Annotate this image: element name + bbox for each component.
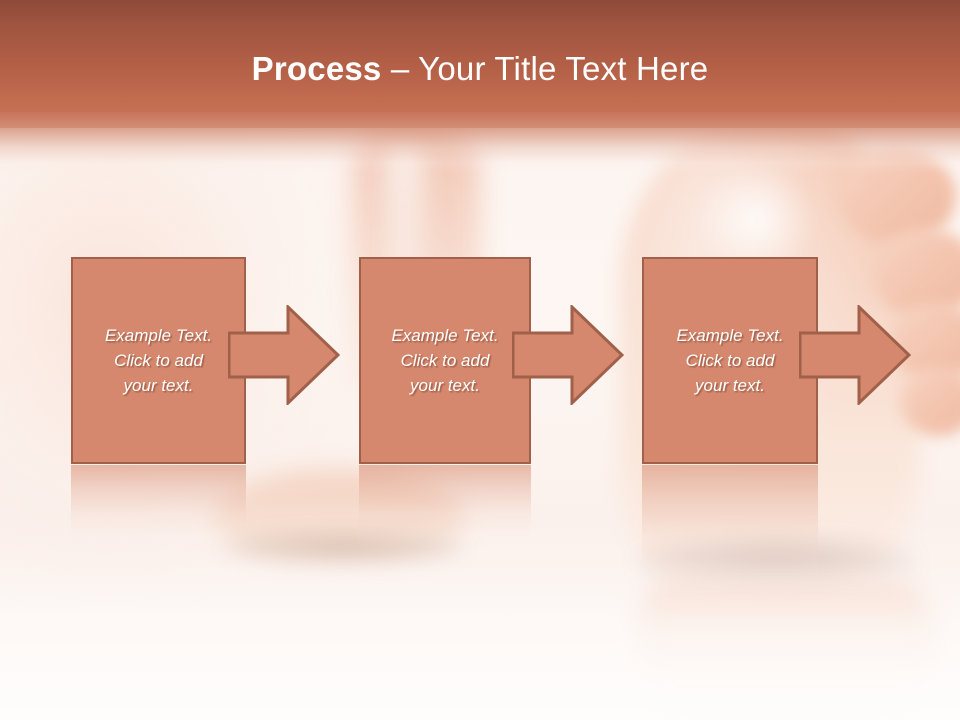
page-title-strong: Process bbox=[252, 50, 382, 87]
page-title: Process – Your Title Text Here bbox=[0, 48, 960, 90]
process-step-3[interactable]: Example Text. Click to add your text. bbox=[642, 257, 818, 464]
process-step-1-text: Example Text. Click to add your text. bbox=[97, 323, 220, 398]
page-title-rest: – Your Title Text Here bbox=[381, 50, 708, 87]
step-reflection-1 bbox=[71, 465, 246, 549]
step-reflection-3 bbox=[642, 465, 818, 585]
process-step-2-text: Example Text. Click to add your text. bbox=[383, 323, 506, 398]
process-step-2[interactable]: Example Text. Click to add your text. bbox=[359, 257, 531, 464]
process-arrow-3[interactable] bbox=[799, 305, 911, 405]
process-arrow-2[interactable] bbox=[512, 305, 624, 405]
step-reflection-2 bbox=[359, 465, 531, 549]
right-arrow-icon bbox=[799, 305, 911, 405]
process-step-1[interactable]: Example Text. Click to add your text. bbox=[71, 257, 246, 464]
right-arrow-icon bbox=[228, 305, 340, 405]
process-step-3-text: Example Text. Click to add your text. bbox=[668, 323, 791, 398]
right-arrow-icon bbox=[512, 305, 624, 405]
process-arrow-1[interactable] bbox=[228, 305, 340, 405]
title-band-fade bbox=[0, 112, 960, 174]
presentation-slide: Process – Your Title Text Here Example T… bbox=[0, 0, 960, 720]
